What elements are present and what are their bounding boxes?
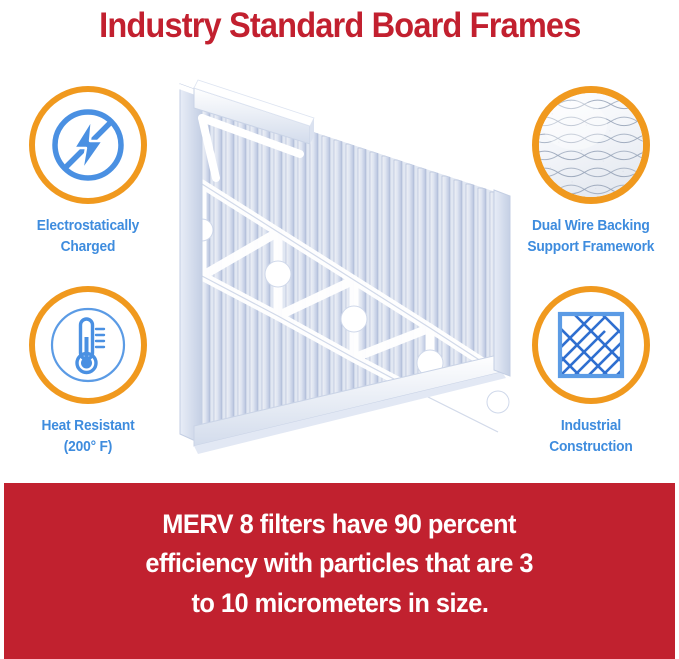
feature-label-line2: Charged — [37, 237, 139, 258]
banner-line-1: MERV 8 filters have 90 percent — [163, 505, 517, 544]
feature-label-line1: Industrial — [549, 416, 632, 437]
feature-electrostatically-charged: Electrostatically Charged — [3, 86, 173, 257]
merv-rating-banner: MERV 8 filters have 90 percent efficienc… — [4, 483, 675, 659]
lightning-bolt-no-symbol-icon — [46, 103, 130, 187]
feature-label-line1: Dual Wire Backing — [528, 216, 655, 237]
icon-ring-orange — [532, 86, 650, 204]
icon-ring-orange — [29, 86, 147, 204]
feature-label: Electrostatically Charged — [37, 216, 139, 257]
page-title: Industry Standard Board Frames — [99, 6, 580, 46]
feature-label-line2: (200° F) — [41, 437, 134, 458]
product-image-pleated-air-filter — [150, 66, 530, 476]
feature-heat-resistant: Heat Resistant (200° F) — [3, 286, 173, 457]
thermometer-icon — [44, 301, 132, 389]
feature-label-line2: Support Framework — [528, 237, 655, 258]
banner-line-2: efficiency with particles that are 3 — [146, 544, 534, 583]
feature-dual-wire-backing: Dual Wire Backing Support Framework — [506, 86, 676, 257]
feature-label-line1: Heat Resistant — [41, 416, 134, 437]
lattice-square-icon — [551, 305, 631, 385]
feature-label: Heat Resistant (200° F) — [41, 416, 134, 457]
product-infographic: Industry Standard Board Frames — [0, 0, 679, 659]
feature-industrial-construction: Industrial Construction — [506, 286, 676, 457]
feature-label-line1: Electrostatically — [37, 216, 139, 237]
feature-label-line2: Construction — [549, 437, 632, 458]
feature-label: Industrial Construction — [549, 416, 632, 457]
icon-ring-orange — [532, 286, 650, 404]
title-bar: Industry Standard Board Frames — [0, 0, 679, 52]
banner-line-3: to 10 micrometers in size. — [191, 584, 488, 623]
feature-label: Dual Wire Backing Support Framework — [528, 216, 655, 257]
icon-ring-orange — [29, 286, 147, 404]
wire-mesh-photo-icon — [539, 93, 643, 197]
